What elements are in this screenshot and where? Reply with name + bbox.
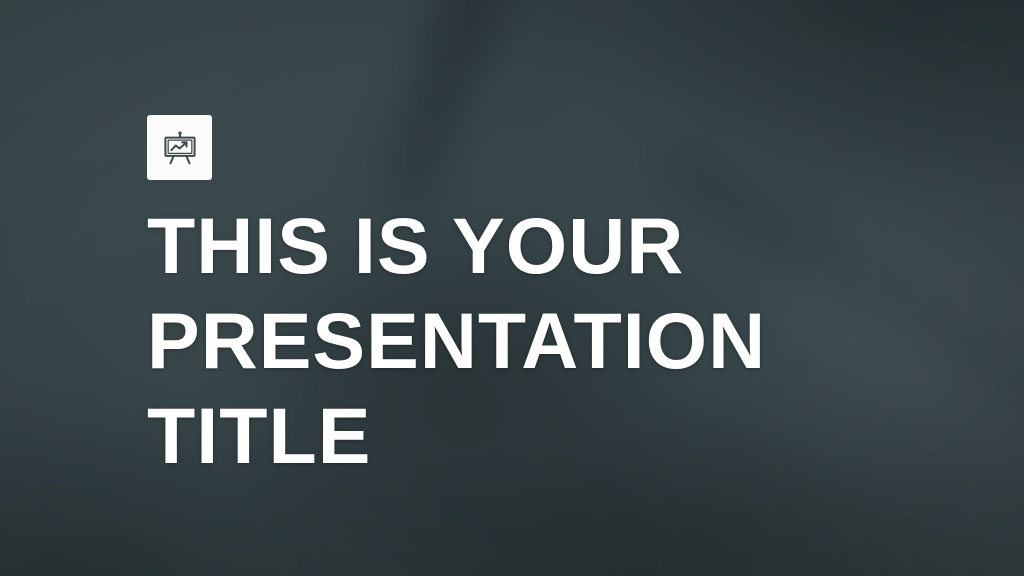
slide-content: THIS IS YOUR PRESENTATION TITLE [0, 0, 1024, 576]
title-line-1: THIS IS YOUR [147, 198, 967, 293]
title-line-2: PRESENTATION [147, 293, 967, 388]
title-line-3: TITLE [147, 388, 967, 483]
presentation-chart-icon [160, 128, 200, 168]
page-title: THIS IS YOUR PRESENTATION TITLE [147, 198, 967, 483]
presentation-title-slide: THIS IS YOUR PRESENTATION TITLE [0, 0, 1024, 576]
presentation-chart-icon-badge [147, 115, 212, 180]
